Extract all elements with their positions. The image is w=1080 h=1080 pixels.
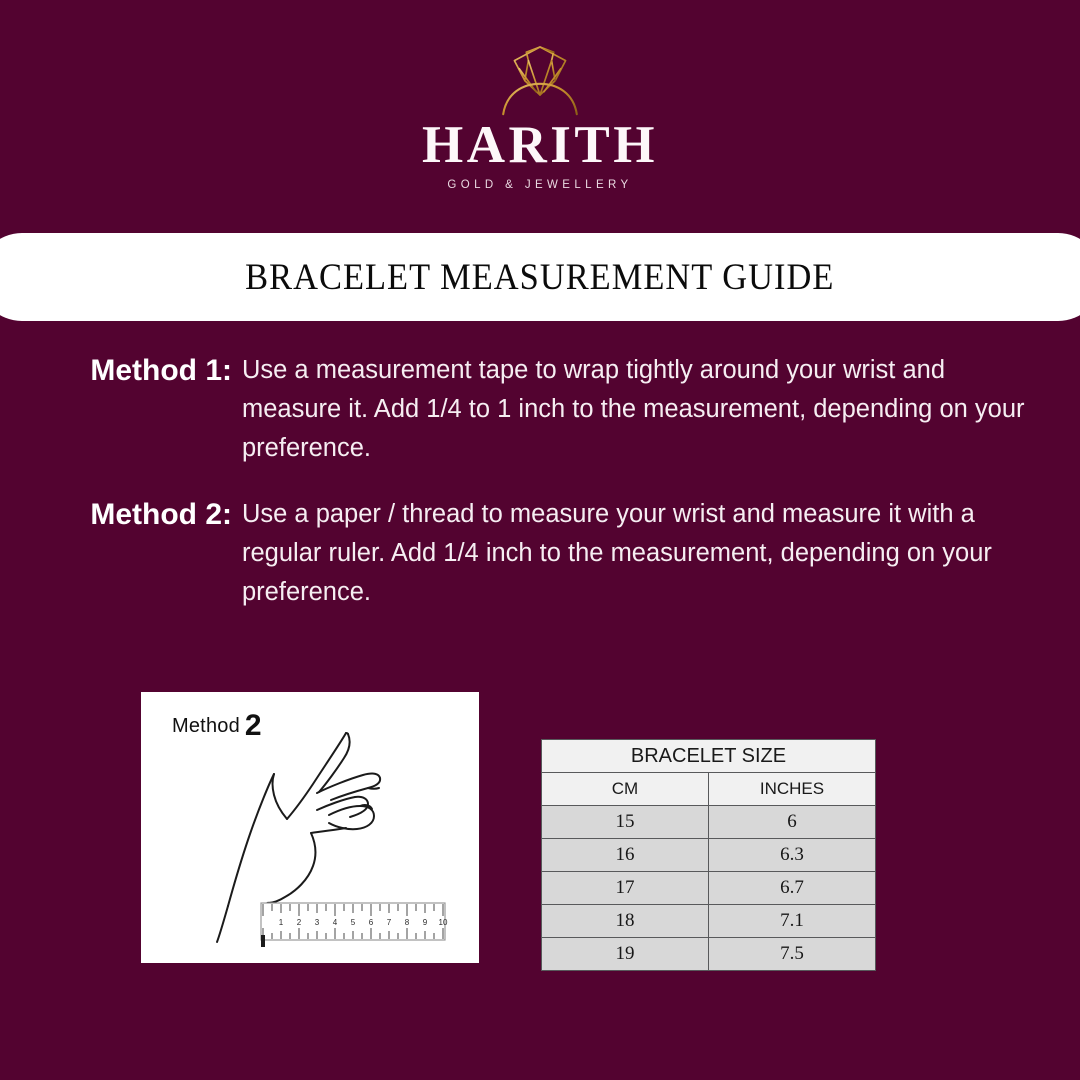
page-title-banner: BRACELET MEASUREMENT GUIDE (0, 233, 1080, 321)
bracelet-size-table: BRACELET SIZE CM INCHES 15 6 16 6.3 17 6… (541, 739, 876, 971)
ruler-tick-label: 6 (369, 918, 374, 927)
method-1-label: Method 1: (52, 351, 242, 390)
method-2-label: Method 2: (52, 495, 242, 534)
method-item: Method 2: Use a paper / thread to measur… (52, 495, 1042, 612)
table-cell-cm: 16 (542, 839, 709, 872)
brand-tagline: GOLD & JEWELLERY (0, 179, 1080, 191)
method-1-description: Use a measurement tape to wrap tightly a… (242, 351, 1042, 468)
table-cell-inches: 7.5 (709, 938, 876, 971)
method-instructions-list: Method 1: Use a measurement tape to wrap… (52, 351, 1042, 639)
brand-name: HARITH (0, 118, 1080, 172)
ruler-tick-label: 3 (315, 918, 320, 927)
table-row: 16 6.3 (542, 839, 876, 872)
hand-with-thread-and-ruler-illustration: 1 2 3 4 5 6 7 8 9 10 (141, 692, 479, 963)
table-cell-inches: 6.3 (709, 839, 876, 872)
table-row: 17 6.7 (542, 872, 876, 905)
diamond-ring-icon (492, 42, 588, 116)
brand-logo-block: HARITH GOLD & JEWELLERY (0, 42, 1080, 191)
table-cell-inches: 6 (709, 806, 876, 839)
table-cell-cm: 15 (542, 806, 709, 839)
table-row: 19 7.5 (542, 938, 876, 971)
ruler-graphic: 1 2 3 4 5 6 7 8 9 10 (261, 903, 448, 947)
method-2-illustration-card: Method2 (141, 692, 479, 963)
ruler-tick-label: 5 (351, 918, 356, 927)
table-row: 15 6 (542, 806, 876, 839)
ruler-tick-label: 4 (333, 918, 338, 927)
ruler-tick-label: 2 (297, 918, 302, 927)
bracelet-size-table-container: BRACELET SIZE CM INCHES 15 6 16 6.3 17 6… (541, 739, 876, 971)
ruler-tick-label: 10 (439, 918, 448, 927)
table-title-row: BRACELET SIZE (542, 740, 876, 773)
ruler-tick-label: 7 (387, 918, 392, 927)
table-header-cm: CM (542, 773, 709, 806)
table-title-cell: BRACELET SIZE (542, 740, 876, 773)
ruler-tick-label: 8 (405, 918, 410, 927)
table-cell-cm: 19 (542, 938, 709, 971)
table-cell-inches: 7.1 (709, 905, 876, 938)
ruler-tick-label: 9 (423, 918, 428, 927)
method-2-description: Use a paper / thread to measure your wri… (242, 495, 1042, 612)
table-header-row: CM INCHES (542, 773, 876, 806)
table-cell-cm: 17 (542, 872, 709, 905)
ruler-tick-label: 1 (279, 918, 284, 927)
method-item: Method 1: Use a measurement tape to wrap… (52, 351, 1042, 468)
table-row: 18 7.1 (542, 905, 876, 938)
table-header-inches: INCHES (709, 773, 876, 806)
page-title: BRACELET MEASUREMENT GUIDE (245, 256, 834, 299)
table-cell-cm: 18 (542, 905, 709, 938)
table-cell-inches: 6.7 (709, 872, 876, 905)
